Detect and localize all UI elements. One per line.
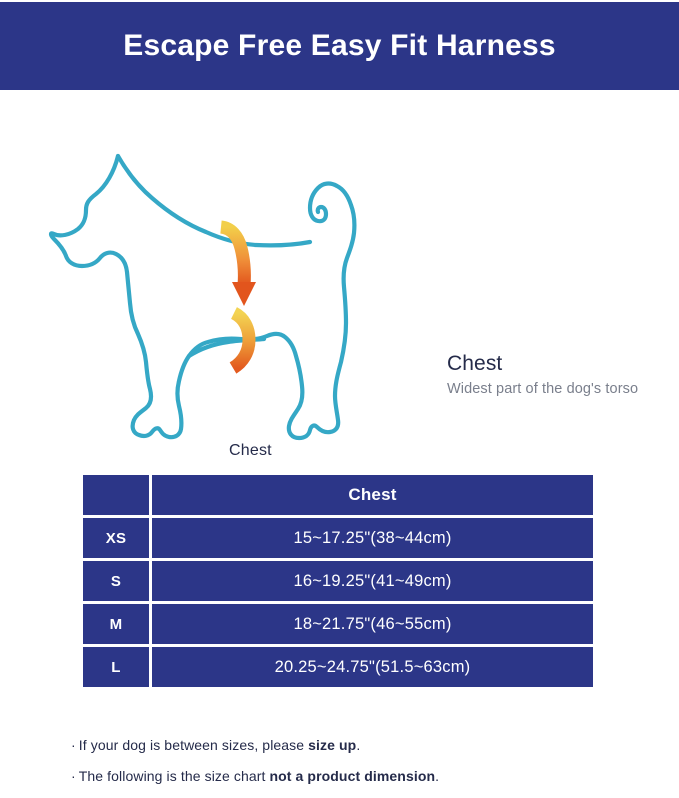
footnote-text-after: .	[356, 737, 360, 753]
page-title: Escape Free Easy Fit Harness	[123, 31, 556, 61]
footnote-text-after: .	[435, 768, 439, 784]
size-label-l: L	[83, 647, 149, 687]
footnotes: ·If your dog is between sizes, please si…	[71, 736, 631, 798]
table-row: L 20.25~24.75"(51.5~63cm)	[83, 647, 593, 687]
bullet-icon: ·	[71, 768, 76, 784]
footnote-text-before: If your dog is between sizes, please	[79, 737, 308, 753]
header-banner: Escape Free Easy Fit Harness	[0, 2, 679, 90]
footnote-not-product-dimension: ·The following is the size chart not a p…	[71, 767, 631, 785]
footnote-emphasis: size up	[308, 737, 356, 753]
footnote-emphasis: not a product dimension	[270, 768, 436, 784]
measurement-description-body: Widest part of the dog's torso	[447, 379, 647, 399]
chest-value-xs: 15~17.25"(38~44cm)	[152, 518, 593, 558]
table-row: M 18~21.75"(46~55cm)	[83, 604, 593, 644]
chest-callout-label: Chest	[229, 442, 272, 460]
chest-value-l: 20.25~24.75"(51.5~63cm)	[152, 647, 593, 687]
measurement-description: Chest Widest part of the dog's torso	[447, 352, 647, 399]
chest-value-m: 18~21.75"(46~55cm)	[152, 604, 593, 644]
table-header-row: Chest	[83, 475, 593, 515]
bullet-icon: ·	[71, 737, 76, 753]
footnote-size-up: ·If your dog is between sizes, please si…	[71, 736, 631, 754]
chest-value-s: 16~19.25"(41~49cm)	[152, 561, 593, 601]
table-body: XS 15~17.25"(38~44cm) S 16~19.25"(41~49c…	[83, 518, 593, 687]
measurement-description-title: Chest	[447, 352, 647, 376]
table-row: S 16~19.25"(41~49cm)	[83, 561, 593, 601]
size-chart-table: Chest XS 15~17.25"(38~44cm) S 16~19.25"(…	[80, 472, 596, 690]
size-label-s: S	[83, 561, 149, 601]
size-label-xs: XS	[83, 518, 149, 558]
illustration-area: Chest Chest Widest part of the dog's tor…	[0, 90, 679, 460]
dog-silhouette-icon	[38, 130, 448, 460]
footnote-text-before: The following is the size chart	[79, 768, 270, 784]
table-row: XS 15~17.25"(38~44cm)	[83, 518, 593, 558]
table-header-size	[83, 475, 149, 515]
size-label-m: M	[83, 604, 149, 644]
table-header-chest: Chest	[152, 475, 593, 515]
